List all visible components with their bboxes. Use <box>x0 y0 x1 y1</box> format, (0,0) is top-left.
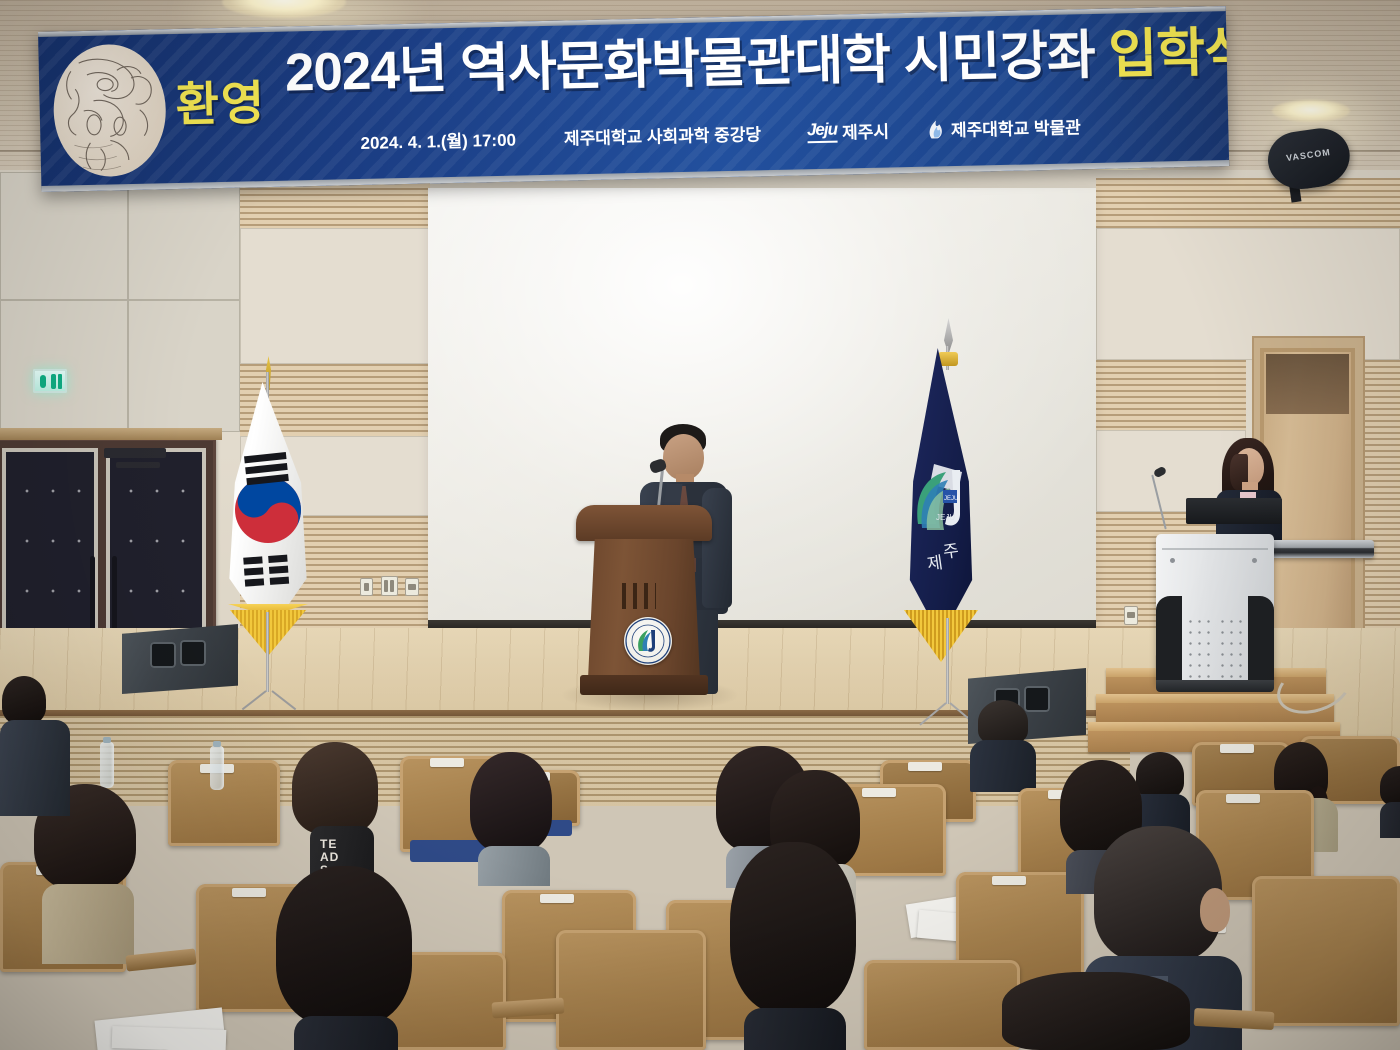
flag-tripod-stand <box>236 646 302 692</box>
audience-person <box>470 752 556 882</box>
lectern-body <box>1156 534 1274 684</box>
lectern-desk-extension <box>1264 540 1374 558</box>
svg-text:JEJU: JEJU <box>944 496 958 502</box>
lectern-side-panel <box>1156 596 1182 686</box>
lectern-seam <box>1162 548 1268 550</box>
ink-drawing-graphic <box>52 43 167 177</box>
seat-number-tag <box>232 888 266 897</box>
svg-text:주: 주 <box>942 541 960 562</box>
exit-arrow-icon <box>58 374 62 389</box>
audience-person <box>1002 972 1192 1050</box>
power-outlet <box>1124 606 1138 625</box>
wall-panel <box>0 300 128 432</box>
speaker-brand-label: VASCOM <box>1267 144 1350 165</box>
audience-person: TEADS <box>292 742 384 874</box>
wall-panel <box>128 172 240 300</box>
seat-number-tag <box>1226 794 1260 803</box>
door-closer <box>104 448 166 458</box>
lectern-vent-holes <box>1218 616 1242 678</box>
banner-emblem <box>52 43 167 177</box>
podium-front-panel <box>588 539 700 679</box>
door-handle[interactable] <box>112 556 117 636</box>
seat-number-tag <box>540 894 574 903</box>
svg-text:제: 제 <box>926 553 944 574</box>
power-outlet <box>405 578 419 596</box>
seat[interactable] <box>1252 876 1400 1026</box>
ceiling-light <box>1272 100 1350 122</box>
screen-glare <box>428 188 1096 628</box>
auditorium-photo: VASCOM <box>0 0 1400 1050</box>
door-glass-panel <box>1266 354 1349 414</box>
banner-welcome-badge: 환영 <box>175 79 266 128</box>
seat[interactable] <box>556 930 706 1050</box>
door-closer-arm <box>116 462 160 468</box>
wall-control-panel[interactable] <box>381 576 398 596</box>
water-bottle <box>210 746 224 790</box>
seat-number-tag <box>908 762 942 771</box>
event-banner: 환영 2024년 역사문화박물관대학 시민강좌 입학식 2024. 4. 1.(… <box>38 6 1229 192</box>
stage-monitor-speaker <box>122 624 238 694</box>
banner-venue: 제주대학교 사회과학 중강당 <box>564 120 762 149</box>
light-switch[interactable] <box>360 578 373 596</box>
audience-person <box>0 676 72 816</box>
av-control-lectern[interactable] <box>1156 520 1278 700</box>
jeju-city-name: 제주시 <box>842 117 889 143</box>
svg-text:JEJU: JEJU <box>936 513 955 522</box>
lectern-vent-holes <box>1186 616 1210 678</box>
banner-headline-accent: 입학식 <box>1108 23 1229 85</box>
lectern-screw <box>1170 558 1175 563</box>
door-header-trim <box>0 428 222 440</box>
seat-number-tag <box>1220 744 1254 753</box>
flame-icon <box>927 118 946 139</box>
audience-person <box>968 700 1038 790</box>
university-flag: JEJU JEJU 제 주 <box>900 348 982 658</box>
taegukgi-symbols <box>222 382 314 634</box>
seat-number-tag <box>430 758 464 767</box>
museum-name: 제주대학교 박물관 <box>951 113 1081 141</box>
seat[interactable] <box>864 960 1020 1050</box>
podium <box>580 505 708 695</box>
wall-panel <box>240 228 430 364</box>
exit-door-icon <box>51 374 56 389</box>
museum-logo: 제주대학교 박물관 <box>927 113 1081 141</box>
audience-person <box>1380 766 1400 836</box>
handout-paper <box>112 1026 227 1050</box>
door-handle[interactable] <box>90 556 95 636</box>
university-flag-emblem: JEJU JEJU 제 주 <box>900 348 982 638</box>
seat-number-tag <box>992 876 1026 885</box>
projection-screen <box>428 188 1096 628</box>
lectern-side-panel <box>1248 596 1274 686</box>
lectern-base <box>1156 680 1274 692</box>
podium-university-seal <box>624 617 672 665</box>
lectern-screw <box>1252 558 1257 563</box>
banner-date-time: 2024. 4. 1.(월) 17:00 <box>360 126 516 154</box>
seat-number-tag <box>862 788 896 797</box>
podium-base <box>580 675 708 695</box>
university-seal-graphic <box>624 617 672 665</box>
podium-vent-slots <box>622 583 656 609</box>
audience-person <box>276 866 414 1050</box>
wall-slat-panel <box>1096 178 1400 228</box>
exit-figure-icon <box>40 375 46 388</box>
audience-person <box>730 842 860 1050</box>
water-bottle <box>100 742 114 788</box>
wall-slat-panel <box>1096 360 1246 430</box>
emergency-exit-sign <box>33 369 67 393</box>
jeju-city-logo: Jeju 제주시 <box>807 117 889 144</box>
jeju-wordmark: Jeju <box>807 120 838 144</box>
podium-top-surface <box>576 505 712 541</box>
lectern-monitor <box>1186 498 1282 524</box>
